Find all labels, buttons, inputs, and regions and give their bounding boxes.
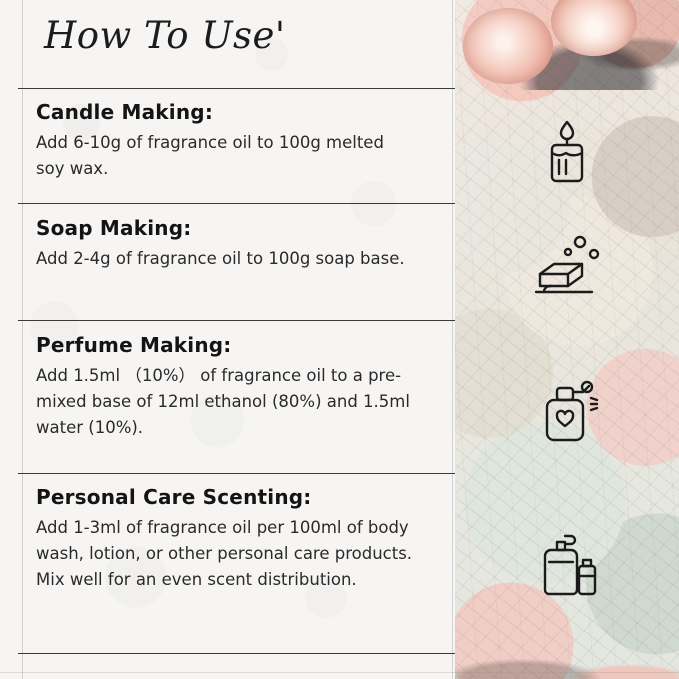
section-candle-making: Candle Making: Add 6-10g of fragrance oi… xyxy=(36,100,446,182)
section-body: Add 2-4g of fragrance oil to 100g soap b… xyxy=(36,246,416,272)
section-body: Add 1-3ml of fragrance oil per 100ml of … xyxy=(36,515,416,593)
section-soap-making: Soap Making: Add 2-4g of fragrance oil t… xyxy=(36,216,446,272)
section-body: Add 1.5ml （10%） of fragrance oil to a pr… xyxy=(36,363,416,441)
section-personal-care-scenting: Personal Care Scenting: Add 1-3ml of fra… xyxy=(36,485,446,593)
section-body: Add 6-10g of fragrance oil to 100g melte… xyxy=(36,130,416,182)
infographic-page: How To Use' Candle Making: Add 6-10g of … xyxy=(0,0,679,679)
section-heading: Personal Care Scenting: xyxy=(36,485,446,509)
soap-bar-icon xyxy=(455,228,679,308)
section-heading: Perfume Making: xyxy=(36,333,446,357)
lotion-bottles-icon xyxy=(455,520,679,610)
content-column: How To Use' Candle Making: Add 6-10g of … xyxy=(0,0,455,679)
section-heading: Candle Making: xyxy=(36,100,446,124)
candle-icon xyxy=(455,112,679,192)
section-heading: Soap Making: xyxy=(36,216,446,240)
section-perfume-making: Perfume Making: Add 1.5ml （10%） of fragr… xyxy=(36,333,446,441)
page-title: How To Use' xyxy=(44,14,286,57)
perfume-bottle-icon xyxy=(455,368,679,454)
